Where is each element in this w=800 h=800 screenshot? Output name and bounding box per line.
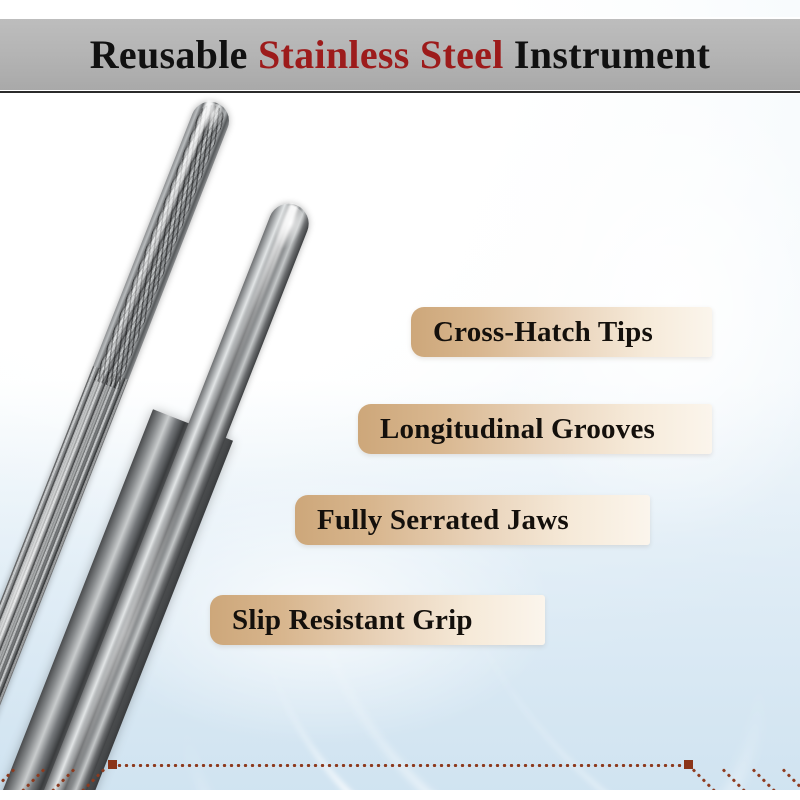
title-text-leading: Reusable	[90, 32, 258, 77]
bottom-margin	[0, 790, 800, 800]
title-text-accent: Stainless Steel	[258, 32, 504, 77]
feature-label-cross-hatch-tips: Cross-Hatch Tips	[411, 307, 712, 357]
feature-label-text: Fully Serrated Jaws	[295, 504, 569, 537]
header-banner: Reusable Stainless Steel Instrument	[0, 17, 800, 90]
dotted-corner-marker-left	[108, 760, 117, 769]
smooth-jaw-lower	[43, 198, 315, 800]
feature-label-text: Longitudinal Grooves	[358, 413, 655, 446]
header-divider	[0, 90, 800, 94]
product-banner-image: Reusable Stainless Steel Instrument Cros…	[0, 0, 800, 800]
page-title: Reusable Stainless Steel Instrument	[90, 35, 711, 75]
dotted-horizontal-rule	[116, 764, 682, 767]
feature-label-fully-serrated-jaws: Fully Serrated Jaws	[295, 495, 650, 545]
feature-label-slip-resistant-grip: Slip Resistant Grip	[210, 595, 545, 645]
feature-label-text: Slip Resistant Grip	[210, 604, 473, 637]
feature-label-longitudinal-grooves: Longitudinal Grooves	[358, 404, 712, 454]
title-text-trailing: Instrument	[504, 32, 711, 77]
feature-label-text: Cross-Hatch Tips	[411, 316, 653, 349]
